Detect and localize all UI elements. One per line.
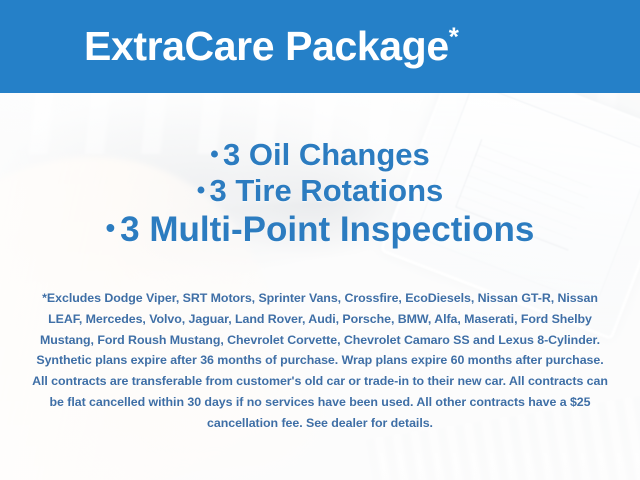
benefit-label: 3 Multi-Point Inspections [120, 210, 534, 249]
page-title-text: ExtraCare Package [84, 23, 449, 69]
bullet-icon: • [210, 141, 218, 168]
page-title-asterisk: * [449, 21, 459, 51]
list-item: •3 Oil Changes [0, 138, 640, 171]
bullet-icon: • [106, 212, 116, 243]
benefit-label: 3 Tire Rotations [210, 173, 444, 208]
disclaimer-text: *Excludes Dodge Viper, SRT Motors, Sprin… [30, 288, 610, 434]
header-band: ExtraCare Package* [0, 0, 640, 93]
benefits-list: •3 Oil Changes •3 Tire Rotations •3 Mult… [0, 138, 640, 249]
list-item: •3 Multi-Point Inspections [0, 211, 640, 249]
extracare-package-promo-card: ExtraCare Package* •3 Oil Changes •3 Tir… [0, 0, 640, 480]
benefit-label: 3 Oil Changes [223, 137, 430, 172]
page-title: ExtraCare Package* [84, 26, 458, 67]
list-item: •3 Tire Rotations [0, 174, 640, 207]
bullet-icon: • [197, 177, 205, 204]
